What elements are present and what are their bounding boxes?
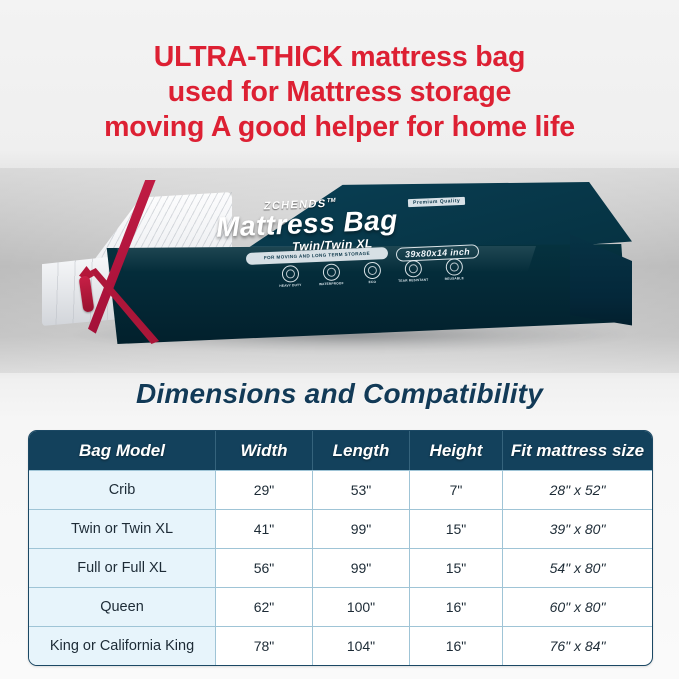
cell-length: 99" — [313, 548, 410, 587]
table-row: King or California King 78" 104" 16" 76"… — [29, 626, 652, 665]
quality-badge: Premium Quality — [408, 197, 466, 207]
reusable-icon — [445, 258, 463, 276]
feature-item: TEAR RESISTANT — [395, 260, 432, 283]
shield-icon — [281, 265, 299, 283]
cell-model: King or California King — [29, 626, 216, 665]
tear-resist-icon — [404, 260, 422, 278]
cell-width: 41" — [216, 509, 313, 548]
cell-width: 29" — [216, 470, 313, 509]
cell-width: 62" — [216, 587, 313, 626]
cell-height: 16" — [410, 587, 503, 626]
cell-height: 7" — [410, 470, 503, 509]
column-header-height: Height — [410, 431, 503, 470]
table-row: Twin or Twin XL 41" 99" 15" 39" x 80" — [29, 509, 652, 548]
cell-fit-size: 39" x 80" — [503, 509, 652, 548]
cell-fit-size: 28" x 52" — [503, 470, 652, 509]
dimensions-table-wrapper: Bag Model Width Length Height Fit mattre… — [28, 430, 651, 666]
table-row: Crib 29" 53" 7" 28" x 52" — [29, 470, 652, 509]
cell-length: 100" — [313, 587, 410, 626]
cell-height: 15" — [410, 548, 503, 587]
trademark-mark: TM — [326, 198, 336, 204]
cell-height: 15" — [410, 509, 503, 548]
cell-length: 53" — [313, 470, 410, 509]
cell-model: Twin or Twin XL — [29, 509, 216, 548]
table-row: Queen 62" 100" 16" 60" x 80" — [29, 587, 652, 626]
infographic-page: ULTRA-THICK mattress bag used for Mattre… — [0, 0, 679, 679]
headline-line-3: moving A good helper for home life — [0, 110, 679, 145]
cell-model: Queen — [29, 587, 216, 626]
feature-item: ECO — [354, 261, 391, 284]
droplet-icon — [322, 263, 340, 281]
headline: ULTRA-THICK mattress bag used for Mattre… — [0, 40, 679, 145]
cell-model: Crib — [29, 470, 216, 509]
cell-length: 99" — [313, 509, 410, 548]
feature-caption: REUSABLE — [436, 276, 472, 282]
cell-width: 56" — [216, 548, 313, 587]
zipper-track-upper — [88, 180, 218, 340]
column-header-length: Length — [313, 431, 410, 470]
feature-item: WATERPROOF — [313, 263, 350, 286]
table-header-row: Bag Model Width Length Height Fit mattre… — [29, 431, 652, 470]
section-title: Dimensions and Compatibility — [0, 378, 679, 410]
headline-line-2: used for Mattress storage — [0, 75, 679, 110]
cell-height: 16" — [410, 626, 503, 665]
column-header-width: Width — [216, 431, 313, 470]
cell-fit-size: 76" x 84" — [503, 626, 652, 665]
table-row: Full or Full XL 56" 99" 15" 54" x 80" — [29, 548, 652, 587]
column-header-fit-size: Fit mattress size — [503, 431, 652, 470]
cell-model: Full or Full XL — [29, 548, 216, 587]
headline-line-1: ULTRA-THICK mattress bag — [0, 40, 679, 75]
cell-fit-size: 54" x 80" — [503, 548, 652, 587]
cell-fit-size: 60" x 80" — [503, 587, 652, 626]
dimensions-table: Bag Model Width Length Height Fit mattre… — [28, 430, 653, 666]
zipper — [88, 180, 218, 340]
feature-item: HEAVY DUTY — [272, 265, 309, 288]
column-header-bag-model: Bag Model — [29, 431, 216, 470]
feature-item: REUSABLE — [435, 258, 472, 281]
leaf-icon — [363, 262, 381, 280]
product-photo: ZCHENDSTM Premium Quality Mattress Bag T… — [0, 168, 679, 373]
cell-width: 78" — [216, 626, 313, 665]
cell-length: 104" — [313, 626, 410, 665]
